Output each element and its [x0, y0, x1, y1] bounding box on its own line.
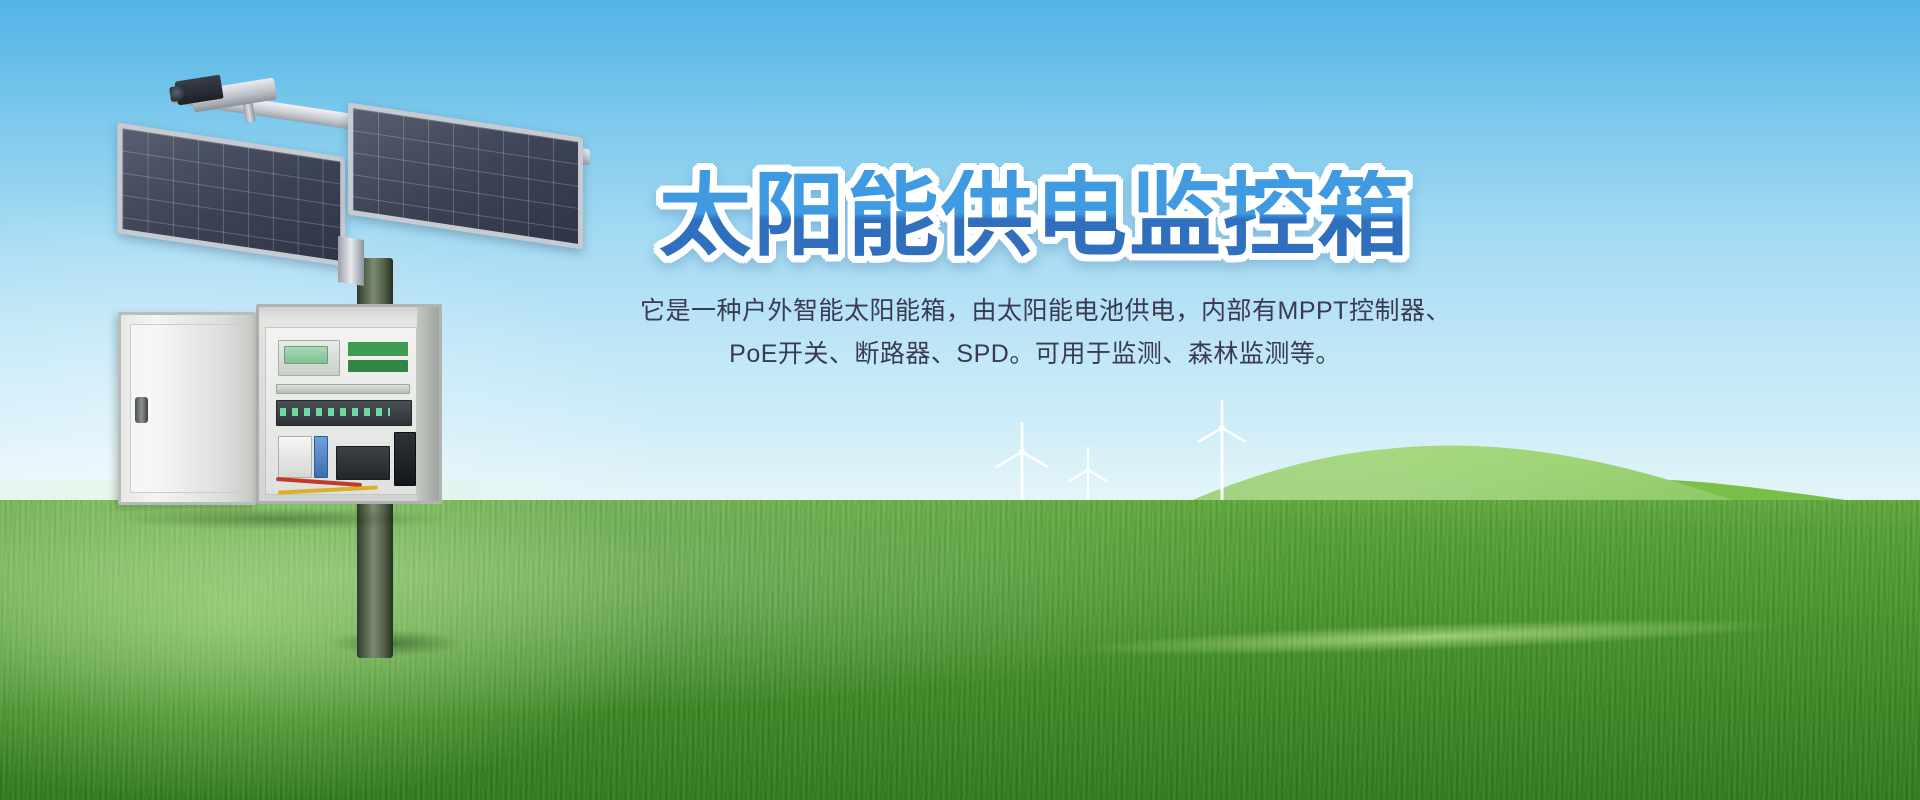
pole-ground-shadow: [330, 630, 460, 656]
spd-module: [314, 436, 328, 478]
description-line-2: PoE开关、断路器、SPD。可用于监测、森林监测等。: [640, 333, 1430, 376]
grass-foreground: [0, 500, 1920, 800]
lock-icon: [135, 397, 148, 423]
description-line-1: 它是一种户外智能太阳能箱，由太阳能电池供电，内部有MPPT控制器、: [640, 290, 1430, 333]
cabinet-side-panel: [417, 307, 439, 501]
din-rail: [276, 384, 410, 394]
solar-panel-assembly: [110, 108, 590, 288]
security-camera: [170, 78, 300, 126]
battery: [336, 446, 390, 480]
solar-power-cabinet: [118, 312, 448, 516]
solar-cells: [122, 128, 340, 261]
cabinet-door: [118, 312, 256, 505]
controller-display: [284, 346, 328, 364]
solar-monitoring-banner: 太阳能供电监控箱 它是一种户外智能太阳能箱，由太阳能电池供电，内部有MPPT控制…: [0, 0, 1920, 800]
solar-cells: [353, 108, 578, 244]
banner-description: 它是一种户外智能太阳能箱，由太阳能电池供电，内部有MPPT控制器、 PoE开关、…: [640, 290, 1430, 376]
yellow-wire: [278, 485, 378, 494]
terminal-board-lower: [348, 360, 408, 372]
cabinet-body: [256, 304, 442, 504]
terminal-board-upper: [348, 342, 408, 356]
cabinet-interior: [265, 327, 417, 495]
solar-panel-left: [117, 122, 345, 266]
banner-text-block: 太阳能供电监控箱 它是一种户外智能太阳能箱，由太阳能电池供电，内部有MPPT控制…: [640, 170, 1430, 376]
circuit-breaker: [278, 436, 312, 478]
panel-pole-mount: [338, 236, 364, 286]
camera-lens-icon: [169, 85, 187, 102]
page-title: 太阳能供电监控箱: [640, 170, 1430, 264]
side-module: [394, 432, 416, 486]
cabinet-ground-shadow: [112, 508, 448, 530]
poe-switch-leds: [280, 408, 390, 416]
camera-bracket: [242, 101, 255, 122]
solar-panel-right: [348, 102, 583, 249]
wind-turbine: [1198, 400, 1246, 500]
